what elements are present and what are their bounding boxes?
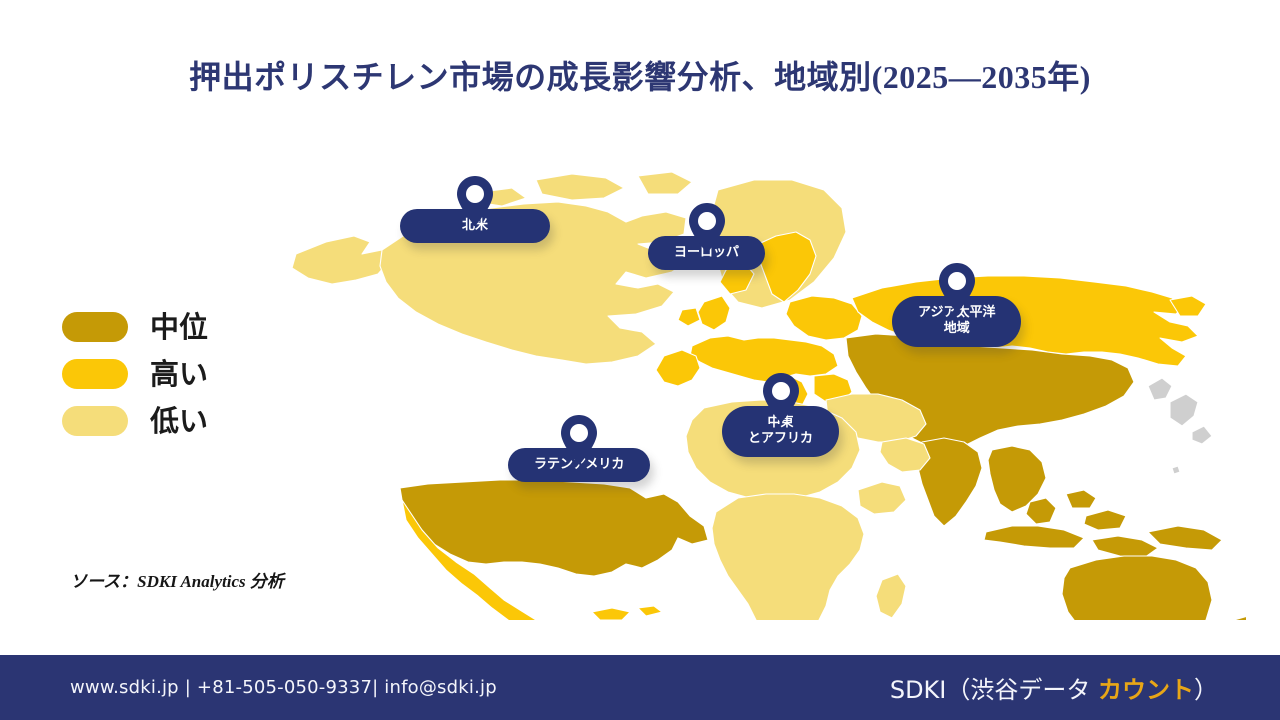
location-pin-icon bbox=[761, 372, 801, 424]
footer-brand: SDKI（渋谷データ カウント） bbox=[890, 670, 1218, 705]
region-asia-pacific bbox=[846, 334, 1246, 620]
map-pin-north-america[interactable]: 北米 bbox=[400, 175, 550, 243]
region-neutral bbox=[1148, 378, 1212, 474]
legend-label-low: 低い bbox=[150, 407, 208, 436]
location-pin-icon bbox=[559, 414, 599, 466]
legend-label-medium: 中位 bbox=[150, 313, 208, 342]
page-title: 押出ポリスチレン市場の成長影響分析、地域別(2025—2035年) bbox=[0, 52, 1280, 98]
map-pin-latin-america[interactable]: ラテンアメリカ bbox=[508, 414, 650, 482]
legend-label-high: 高い bbox=[150, 360, 208, 389]
footer-brand-suffix: ） bbox=[1194, 676, 1218, 704]
legend-swatch-low bbox=[62, 406, 128, 436]
legend-swatch-medium bbox=[62, 312, 128, 342]
legend-item-medium: 中位 bbox=[62, 312, 208, 342]
footer-brand-accent: カウント bbox=[1098, 676, 1194, 704]
legend-item-high: 高い bbox=[62, 359, 208, 389]
location-pin-icon bbox=[455, 175, 495, 227]
map-pin-middle-east-africa[interactable]: 中東 とアフリカ bbox=[722, 372, 839, 457]
legend-item-low: 低い bbox=[62, 406, 208, 436]
footer-brand-prefix: SDKI（渋谷データ bbox=[890, 676, 1098, 704]
footer-contact-info[interactable]: www.sdki.jp | +81-505-050-9337| info@sdk… bbox=[70, 677, 497, 698]
location-pin-icon bbox=[687, 202, 727, 254]
source-note: ソース：SDKI Analytics 分析 bbox=[70, 567, 284, 592]
map-pin-europe[interactable]: ヨーロッパ bbox=[648, 202, 765, 270]
map-pin-asia-pacific[interactable]: アジア太平洋 地域 bbox=[892, 262, 1021, 347]
legend: 中位 高い 低い bbox=[62, 312, 208, 436]
slide-canvas: 押出ポリスチレン市場の成長影響分析、地域別(2025—2035年) bbox=[0, 0, 1280, 720]
legend-swatch-high bbox=[62, 359, 128, 389]
location-pin-icon bbox=[937, 262, 977, 314]
footer-bar: www.sdki.jp | +81-505-050-9337| info@sdk… bbox=[0, 655, 1280, 720]
